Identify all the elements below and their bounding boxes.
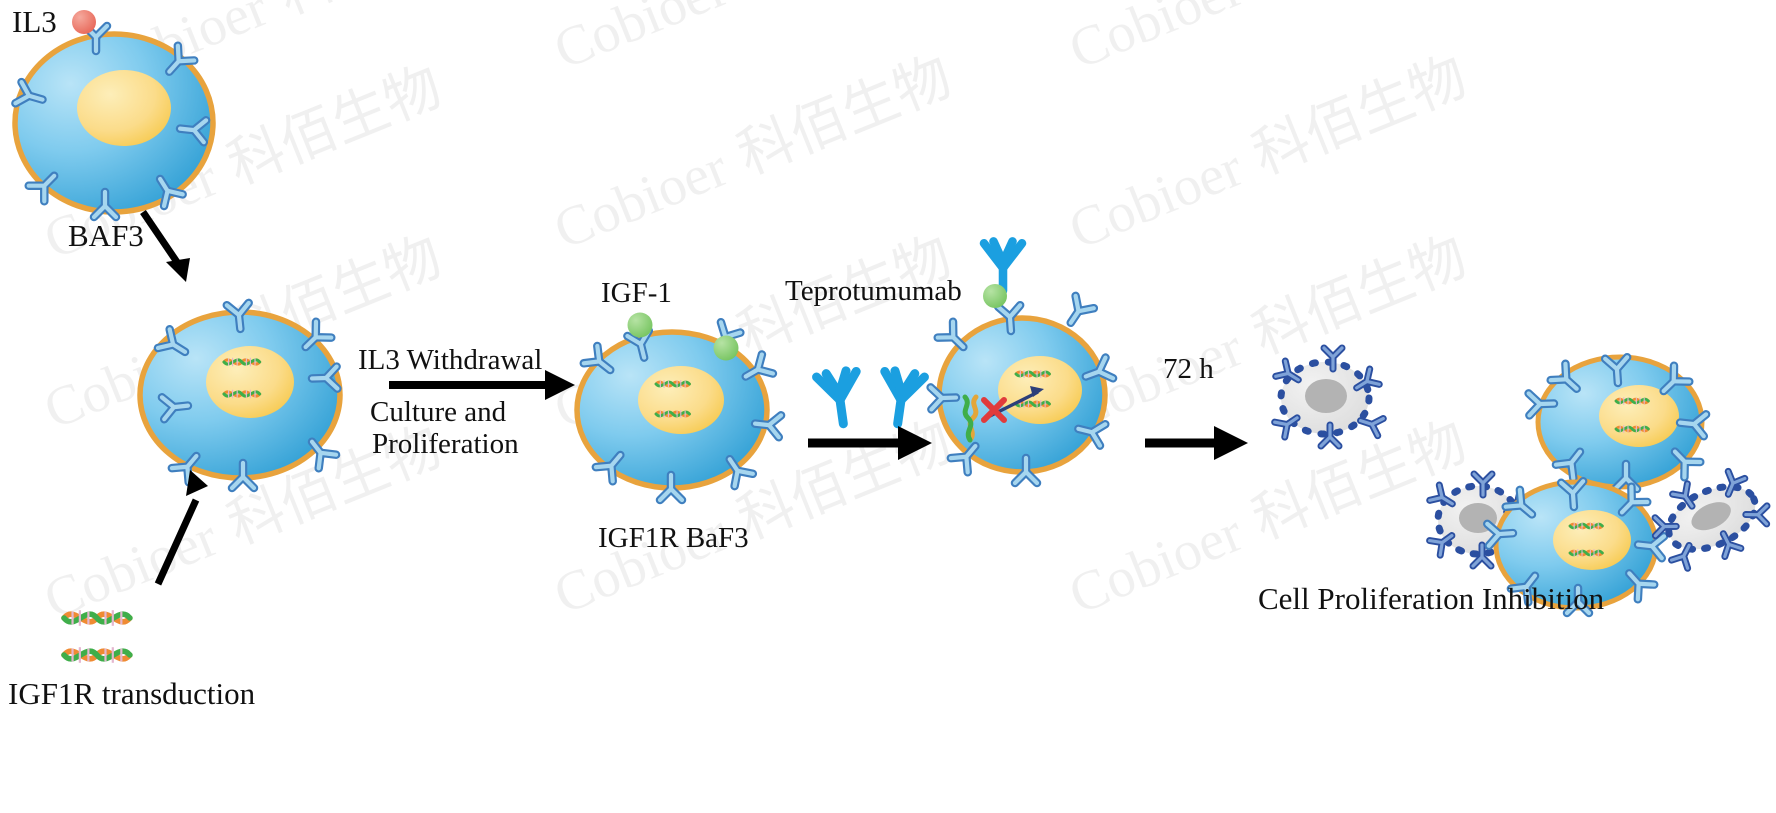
igf1-ligand-dot-1: [628, 313, 653, 338]
antibody-bound-teprotumumab: [984, 241, 1022, 290]
label-il3: IL3: [12, 4, 57, 40]
label-il3-withdrawal: IL3 Withdrawal: [358, 344, 542, 377]
arrow-transduction: [158, 470, 208, 584]
cell-igf1r-transduced: [140, 303, 340, 488]
figure-canvas: Cobioer 科佰生物Cobioer 科佰生物Cobioer 科佰生物Cobi…: [0, 0, 1776, 813]
apoptotic-cell-1: [1275, 348, 1384, 446]
label-culture: Culture and: [370, 396, 506, 429]
label-teprotumumab: Teprotumumab: [785, 275, 962, 308]
il3-ligand-dot: [72, 10, 96, 34]
label-proliferation: Proliferation: [372, 428, 519, 461]
igf1-ligand-dot-blocked: [983, 284, 1007, 308]
arrow-teprotumumab: [808, 426, 932, 460]
live-cell-1: [1529, 357, 1706, 489]
label-baf3: BAF3: [68, 218, 144, 254]
arrow-72h: [1145, 426, 1248, 460]
label-72h: 72 h: [1163, 353, 1214, 386]
cell-igf1r-baf3: [577, 322, 781, 500]
igf1-ligand-dot-2: [714, 336, 739, 361]
label-igf1r-transduction: IGF1R transduction: [8, 676, 255, 712]
cell-blocked-igf1r: [931, 296, 1113, 483]
antibody-pair-free: [816, 369, 924, 426]
arrow-baf3-to-transduced: [143, 212, 190, 282]
dna-construct-igf1r: [64, 610, 130, 663]
label-igf1r-baf3: IGF1R BaF3: [598, 522, 749, 555]
cell-baf3-parental: [15, 26, 213, 217]
label-cell-proliferation-inhibition: Cell Proliferation Inhibition: [1258, 581, 1604, 617]
label-igf1: IGF-1: [601, 277, 672, 310]
diagram-artwork: [0, 0, 1776, 813]
